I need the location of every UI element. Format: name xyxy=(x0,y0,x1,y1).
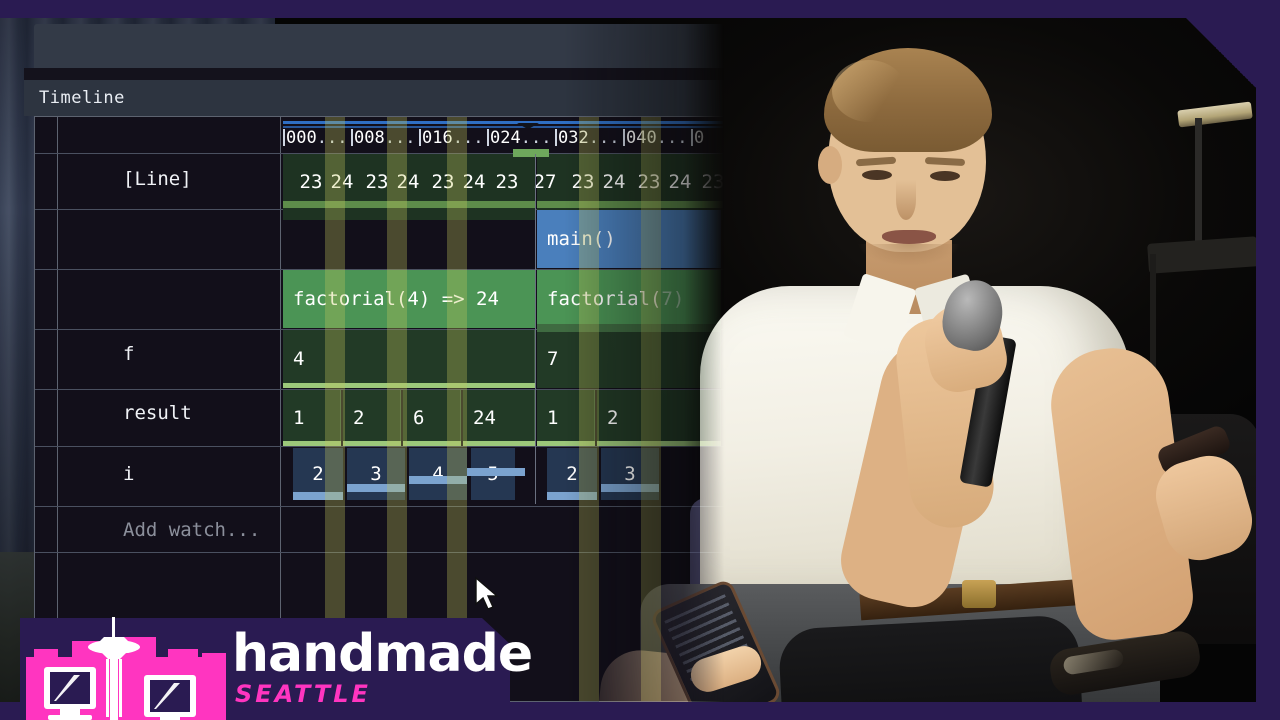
line-value: 23 xyxy=(487,154,527,209)
var-value: 4 xyxy=(293,348,304,370)
loop-cell-i[interactable]: 5 xyxy=(471,448,515,500)
var-value: 2 xyxy=(607,407,618,429)
loop-value: 2 xyxy=(566,463,577,485)
line-value: 23 xyxy=(357,154,397,209)
eye-right xyxy=(930,171,960,181)
call-frame-label: main() xyxy=(547,228,616,250)
add-watch-input[interactable]: Add watch... xyxy=(123,521,260,540)
loop-cell-i[interactable]: 3 xyxy=(347,448,405,500)
loop-cell-i[interactable]: 3 xyxy=(601,448,659,500)
var-value: 1 xyxy=(547,407,558,429)
var-cell-f[interactable]: 7 xyxy=(537,330,721,388)
nose xyxy=(896,180,916,220)
var-cell-result[interactable]: 2 xyxy=(597,390,721,446)
ruler-tick: 008... xyxy=(351,128,415,148)
loop-cell-i[interactable]: 2 xyxy=(547,448,597,500)
ruler-tick: 000... xyxy=(283,128,347,148)
line-value: 24 xyxy=(327,154,357,209)
mouse-cursor xyxy=(474,576,500,612)
call-frame-label-dim: 7) xyxy=(661,288,684,310)
call-frame-factorial-7[interactable]: factorial(7) xyxy=(537,270,721,328)
line-value: 23 xyxy=(693,154,724,209)
var-cap xyxy=(537,324,721,332)
scrollbar-thumb[interactable] xyxy=(283,121,723,124)
timeline-scrollbar[interactable] xyxy=(281,119,724,126)
speaker-hair xyxy=(824,48,992,152)
ruler-tick: 016... xyxy=(419,128,483,148)
eye-left xyxy=(862,170,892,180)
screen: Timeline [Line] f result i Add watch... xyxy=(0,0,1280,720)
row-label-i: i xyxy=(123,465,134,484)
timeline-ruler[interactable]: 000... 008... 016... 024... 032... 040..… xyxy=(281,128,724,154)
ruler-tick: 0 xyxy=(691,128,704,148)
panel-divider xyxy=(24,68,724,80)
logo-wordmark: handmade xyxy=(232,628,532,680)
belt-buckle xyxy=(962,580,996,608)
frame-corner-bevel xyxy=(1186,18,1256,88)
var-value: 1 xyxy=(293,407,304,429)
row-label-result: result xyxy=(123,404,192,423)
handmade-seattle-logo: handmade SEATTLE xyxy=(20,600,510,720)
var-cell-result[interactable]: 2 xyxy=(343,390,401,446)
chair-arm xyxy=(778,614,1083,702)
var-cell-f[interactable]: 4 xyxy=(283,330,535,388)
line-marker xyxy=(513,149,549,157)
call-frame-label: factorial(4) => 24 xyxy=(293,288,499,310)
ruler-tick: 024... xyxy=(487,128,551,148)
var-value: 2 xyxy=(353,407,364,429)
loop-value: 3 xyxy=(624,463,635,485)
call-frame-factorial-4[interactable]: factorial(4) => 24 xyxy=(283,270,535,328)
toolbar-panel[interactable] xyxy=(34,24,724,68)
line-value: 27 xyxy=(525,154,565,209)
loop-value: 3 xyxy=(370,463,381,485)
line-value: 24 xyxy=(459,154,489,209)
chin-shadow xyxy=(858,244,960,266)
speaker-ear xyxy=(818,146,842,184)
frame-top xyxy=(0,0,1280,18)
line-value: 23 xyxy=(563,154,603,209)
panel-title: Timeline xyxy=(39,88,125,108)
seattle-skyline-graphic xyxy=(26,615,226,720)
frame-boundary xyxy=(535,154,536,504)
logo-subtitle: SEATTLE xyxy=(235,682,532,706)
var-cell-result[interactable]: 6 xyxy=(403,390,461,446)
var-value: 7 xyxy=(547,348,558,370)
line-value: 24 xyxy=(393,154,423,209)
line-value: 23 xyxy=(423,154,463,209)
loop-value: 2 xyxy=(312,463,323,485)
loop-cell-i[interactable]: 2 xyxy=(293,448,343,500)
var-cell-result[interactable]: 1 xyxy=(283,390,341,446)
var-cell-result[interactable]: 24 xyxy=(463,390,535,446)
line-value: 24 xyxy=(665,154,695,209)
logo-text: handmade SEATTLE xyxy=(232,628,532,706)
line-value: 24 xyxy=(599,154,629,209)
var-cell-result[interactable]: 1 xyxy=(537,390,595,446)
ruler-tick: 040... xyxy=(623,128,687,148)
call-frame-main[interactable]: main() xyxy=(537,210,721,268)
call-frame-label: factorial( xyxy=(547,288,661,310)
loop-cell-i[interactable]: 4 xyxy=(409,448,467,500)
row-label-line: [Line] xyxy=(123,170,192,189)
var-value: 6 xyxy=(413,407,424,429)
mouth xyxy=(882,230,936,244)
line-value: 23 xyxy=(291,154,331,209)
row-label-f: f xyxy=(123,345,134,364)
frame-right xyxy=(1256,0,1280,720)
var-value: 24 xyxy=(473,407,496,429)
ruler-tick: 032... xyxy=(555,128,619,148)
line-value: 23 xyxy=(629,154,669,209)
timeline-panel-header: Timeline xyxy=(24,80,724,116)
